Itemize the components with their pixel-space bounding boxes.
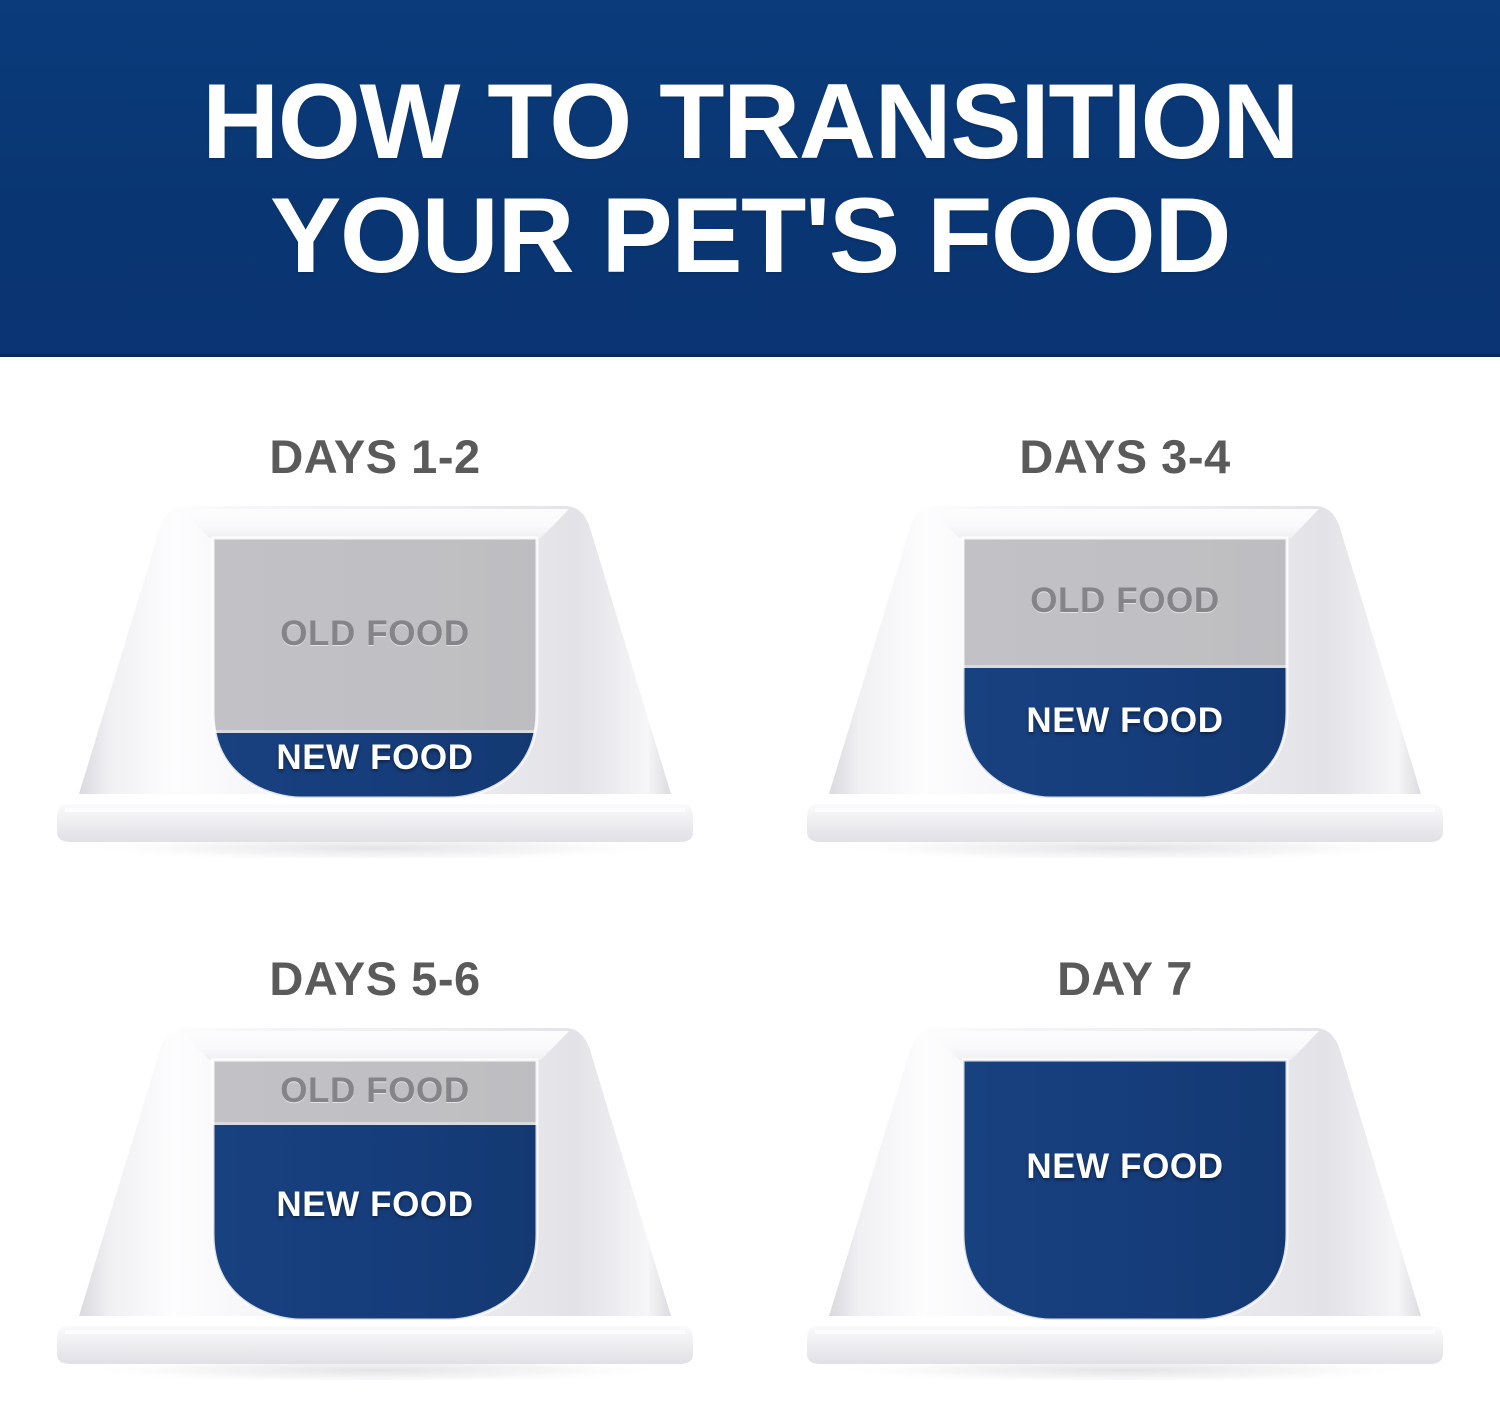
bowl-rim xyxy=(181,1031,569,1060)
food-bowl: OLD FOODNEW FOOD xyxy=(45,498,705,858)
page-title-line-1: HOW TO TRANSITION xyxy=(202,67,1298,176)
bowl-card-4: DAY 7NEW FOOD xyxy=(750,879,1500,1401)
bowl-illustration xyxy=(45,1020,705,1380)
bowl-card-3: DAYS 5-6OLD FOODNEW FOOD xyxy=(0,879,750,1401)
bowl-illustration xyxy=(45,498,705,858)
day-label: DAYS 5-6 xyxy=(269,951,480,1006)
header-banner: HOW TO TRANSITION YOUR PET'S FOOD xyxy=(0,0,1500,357)
bowl-base-highlight xyxy=(815,1330,1435,1334)
bowl-illustration xyxy=(795,1020,1455,1380)
bowl-rim xyxy=(181,509,569,538)
bowl-grid: DAYS 1-2OLD FOODNEW FOODDAYS 3-4OLD FOOD… xyxy=(0,357,1500,1401)
bowl-rim xyxy=(931,1031,1319,1060)
food-bowl: NEW FOOD xyxy=(795,1020,1455,1380)
bowl-card-2: DAYS 3-4OLD FOODNEW FOOD xyxy=(750,357,1500,879)
page-title-line-2: YOUR PET'S FOOD xyxy=(270,181,1230,290)
day-label: DAYS 1-2 xyxy=(269,429,480,484)
bowl-base-highlight xyxy=(65,1330,685,1334)
bowl-rim xyxy=(931,509,1319,538)
bowl-card-1: DAYS 1-2OLD FOODNEW FOOD xyxy=(0,357,750,879)
bowl-base-highlight xyxy=(65,808,685,812)
day-label: DAY 7 xyxy=(1057,951,1193,1006)
bowl-illustration xyxy=(795,498,1455,858)
bowl-base-highlight xyxy=(815,808,1435,812)
day-label: DAYS 3-4 xyxy=(1019,429,1230,484)
food-bowl: OLD FOODNEW FOOD xyxy=(45,1020,705,1380)
food-bowl: OLD FOODNEW FOOD xyxy=(795,498,1455,858)
